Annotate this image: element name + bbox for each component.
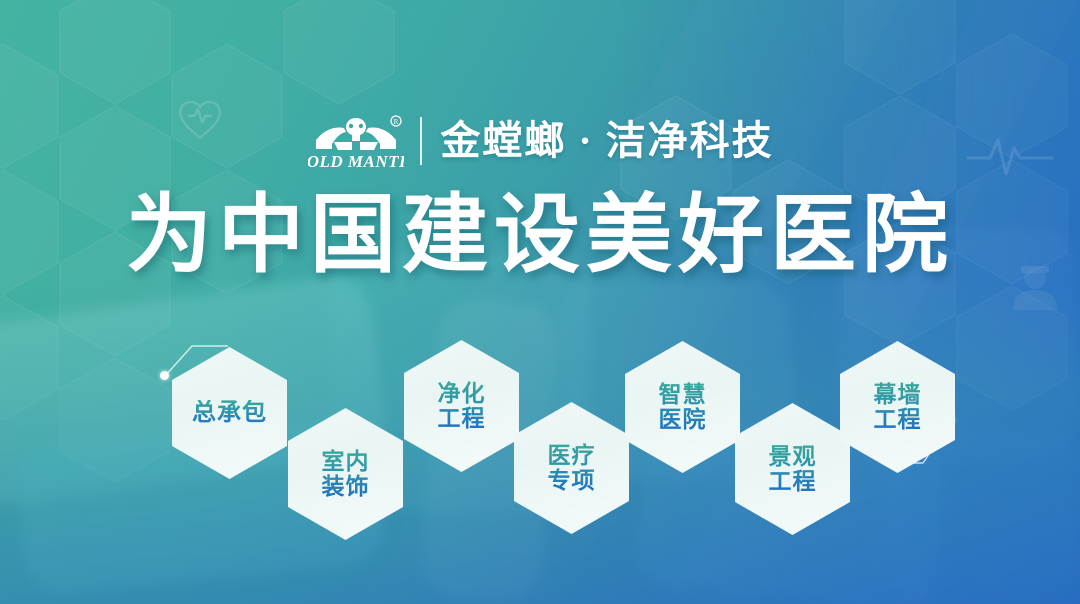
service-badge-line: 专项 <box>548 467 596 493</box>
service-badge-line: 工程 <box>874 406 922 432</box>
service-badge-row: 总承包 室内 装饰 净化 工程 医疗 专项 智慧 医院 <box>0 0 1080 604</box>
poster-canvas: R GOLD MANTIS 金螳螂 · 洁净科技 为中国建设美好医院 总承包 室… <box>0 0 1080 604</box>
service-badge-line: 医院 <box>659 406 707 432</box>
service-badge[interactable]: 智慧 医院 <box>625 341 740 473</box>
service-badge-label: 净化 工程 <box>438 381 486 431</box>
service-badge[interactable]: 医疗 专项 <box>514 402 629 534</box>
service-badge-line: 工程 <box>769 468 817 494</box>
service-badge-line: 净化 <box>438 380 486 406</box>
service-badge-line: 幕墙 <box>874 381 922 407</box>
service-badge-label: 总承包 <box>192 400 267 426</box>
service-badge-line: 工程 <box>438 405 486 431</box>
connector-dot-left <box>160 371 169 380</box>
service-badge[interactable]: 净化 工程 <box>404 340 519 472</box>
service-badge-line: 室内 <box>322 448 370 474</box>
service-badge-label: 室内 装饰 <box>322 449 370 499</box>
service-badge[interactable]: 景观 工程 <box>735 403 850 535</box>
service-badge-label: 幕墙 工程 <box>874 382 922 432</box>
service-badge-label: 智慧 医院 <box>659 382 707 432</box>
service-badge-label: 景观 工程 <box>769 444 817 494</box>
service-badge-label: 医疗 专项 <box>548 443 596 493</box>
service-badge-line: 景观 <box>769 443 817 469</box>
service-badge-line: 智慧 <box>659 381 707 407</box>
service-badge[interactable]: 室内 装饰 <box>288 408 403 540</box>
service-badge-line: 医疗 <box>548 442 596 468</box>
service-badge-line: 装饰 <box>322 473 370 499</box>
